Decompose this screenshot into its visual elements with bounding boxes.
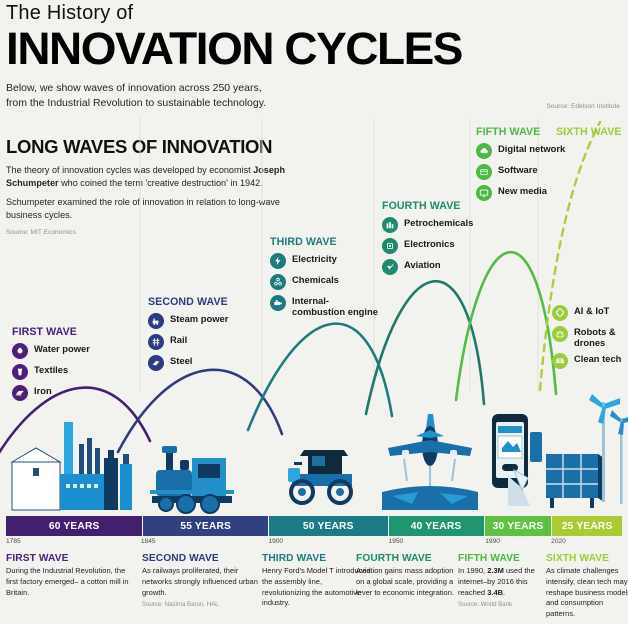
wave-item-steam-power[interactable]: Steam power bbox=[148, 313, 228, 329]
illustration-strip bbox=[0, 392, 628, 516]
wave-item-rail[interactable]: Rail bbox=[148, 334, 228, 350]
chemicals-icon bbox=[270, 274, 286, 290]
software-icon bbox=[476, 164, 492, 180]
year-tick: 1900 bbox=[268, 538, 283, 545]
lw-p1-c: who coined the term 'creative destructio… bbox=[59, 178, 263, 188]
wave-item-textiles[interactable]: Textiles bbox=[12, 364, 90, 380]
footer-col-fourth: FOURTH WAVE Aviation gains mass adoption… bbox=[356, 553, 460, 598]
model-t-illustration bbox=[288, 450, 352, 503]
wave-item-software[interactable]: Software bbox=[476, 164, 565, 180]
lw-p1-a: The theory of innovation cycles was deve… bbox=[6, 165, 253, 175]
wave-item-petrochemicals[interactable]: Petrochemicals bbox=[382, 217, 473, 233]
wave-heading-fifth: FIFTH WAVE bbox=[476, 126, 565, 138]
year-tick: 1845 bbox=[141, 538, 156, 545]
wave-item-label: Steel bbox=[170, 355, 192, 367]
electricity-icon bbox=[270, 253, 286, 269]
header-subtitle-line2: from the Industrial Revolution to sustai… bbox=[6, 96, 622, 111]
solar-panel-icon bbox=[552, 353, 568, 369]
cloud-network-icon bbox=[476, 143, 492, 159]
wave-item-label: Electronics bbox=[404, 238, 455, 250]
engine-icon bbox=[270, 295, 286, 311]
wave-item-label: Digital network bbox=[498, 143, 565, 155]
footer-descriptions: FIRST WAVE During the Industrial Revolut… bbox=[6, 553, 622, 621]
year-tick: 1990 bbox=[485, 538, 500, 545]
header-subtitle-line1: Below, we show waves of innovation acros… bbox=[6, 81, 622, 96]
robot-icon bbox=[552, 326, 568, 342]
page-title: INNOVATION CYCLES bbox=[6, 26, 628, 71]
wave-item-clean-tech[interactable]: Clean tech bbox=[552, 353, 626, 369]
wave-legend-sixth: AI & IoT Robots & drones Clean tech bbox=[552, 300, 626, 369]
wave-item-digital-network[interactable]: Digital network bbox=[476, 143, 565, 159]
header-source: Source: Edelson Institute bbox=[546, 103, 620, 110]
wave-item-label: Rail bbox=[170, 334, 187, 346]
wave-item-label: Software bbox=[498, 164, 538, 176]
wave-item-label: New media bbox=[498, 185, 547, 197]
long-waves-paragraph-1: The theory of innovation cycles was deve… bbox=[6, 164, 306, 190]
electronics-icon bbox=[382, 238, 398, 254]
wave-heading-third: THIRD WAVE bbox=[270, 236, 382, 248]
footer-source: Source: Nacima Baron, HAL bbox=[142, 601, 258, 608]
footer-body: In 1990, 2.3M used the internet–by 2016 … bbox=[458, 566, 548, 598]
long-waves-paragraph-2: Schumpeter examined the role of innovati… bbox=[6, 196, 306, 222]
wave-legend-sixth-heading: SIXTH WAVE bbox=[556, 126, 622, 138]
wave-item-label: Internal-combustion engine bbox=[292, 295, 382, 317]
header-subtitle: Below, we show waves of innovation acros… bbox=[6, 81, 622, 111]
solar-wind-illustration bbox=[546, 394, 628, 508]
wave-legend-second: SECOND WAVE Steam power Rail Steel bbox=[148, 296, 228, 371]
footer-heading: FIRST WAVE bbox=[6, 553, 134, 564]
locomotive-illustration bbox=[150, 446, 234, 513]
aviation-icon bbox=[382, 259, 398, 275]
textiles-icon bbox=[12, 364, 28, 380]
wave-item-water-power[interactable]: Water power bbox=[12, 343, 90, 359]
wave-heading-sixth: SIXTH WAVE bbox=[556, 126, 622, 138]
steel-icon bbox=[148, 355, 164, 371]
factory-illustration bbox=[12, 422, 132, 510]
fb5-a: In 1990, bbox=[458, 566, 487, 575]
wave-item-robots-drones[interactable]: Robots & drones bbox=[552, 326, 626, 348]
fb5-e: . bbox=[503, 588, 505, 597]
steam-power-icon bbox=[148, 313, 164, 329]
wave-legend-fourth: FOURTH WAVE Petrochemicals Electronics A… bbox=[382, 200, 473, 275]
year-tick: 1950 bbox=[389, 538, 404, 545]
wave-legend-fifth: FIFTH WAVE Digital network Software New … bbox=[476, 126, 565, 201]
footer-col-second: SECOND WAVE As railways proliferated, th… bbox=[142, 553, 258, 608]
year-tick: 1785 bbox=[6, 538, 21, 545]
wave-item-aviation[interactable]: Aviation bbox=[382, 259, 473, 275]
page-header: The History of INNOVATION CYCLES Below, … bbox=[6, 2, 622, 111]
footer-source: Source: World Bank bbox=[458, 601, 548, 608]
new-media-icon bbox=[476, 185, 492, 201]
wave-heading-first: FIRST WAVE bbox=[12, 326, 90, 338]
footer-col-fifth: FIFTH WAVE In 1990, 2.3M used the intern… bbox=[458, 553, 548, 608]
timeline-segment-third[interactable]: 50 YEARS bbox=[269, 516, 389, 536]
fb5-stat1: 2.3M bbox=[487, 566, 504, 575]
footer-heading: SIXTH WAVE bbox=[546, 553, 628, 564]
wave-item-label: Robots & drones bbox=[574, 326, 626, 348]
wave-heading-second: SECOND WAVE bbox=[148, 296, 228, 308]
footer-heading: FOURTH WAVE bbox=[356, 553, 460, 564]
timeline-segment-fifth[interactable]: 30 YEARS bbox=[485, 516, 553, 536]
wave-item-label: AI & IoT bbox=[574, 305, 609, 317]
wave-item-electronics[interactable]: Electronics bbox=[382, 238, 473, 254]
wave-item-label: Chemicals bbox=[292, 274, 339, 286]
timeline-segment-sixth[interactable]: 25 YEARS bbox=[552, 516, 622, 536]
wave-item-label: Petrochemicals bbox=[404, 217, 473, 229]
footer-body: Aviation gains mass adoption on a global… bbox=[356, 566, 460, 598]
timeline-segment-first[interactable]: 60 YEARS bbox=[6, 516, 143, 536]
wave-item-label: Water power bbox=[34, 343, 90, 355]
timeline-bar: 60 YEARS 55 YEARS 50 YEARS 40 YEARS 30 Y… bbox=[6, 516, 622, 536]
airplane-illustration bbox=[382, 414, 478, 510]
smartphone-illustration bbox=[492, 414, 542, 506]
footer-col-sixth: SIXTH WAVE As climate challenges intensi… bbox=[546, 553, 628, 620]
wave-item-new-media[interactable]: New media bbox=[476, 185, 565, 201]
footer-col-first: FIRST WAVE During the Industrial Revolut… bbox=[6, 553, 134, 598]
wave-item-label: Clean tech bbox=[574, 353, 621, 365]
wave-item-chemicals[interactable]: Chemicals bbox=[270, 274, 382, 290]
wave-item-label: Steam power bbox=[170, 313, 228, 325]
timeline-segment-second[interactable]: 55 YEARS bbox=[143, 516, 269, 536]
wave-legend-first: FIRST WAVE Water power Textiles Iron bbox=[12, 326, 90, 401]
footer-heading: FIFTH WAVE bbox=[458, 553, 548, 564]
footer-heading: SECOND WAVE bbox=[142, 553, 258, 564]
long-waves-panel: LONG WAVES OF INNOVATION The theory of i… bbox=[6, 136, 306, 236]
wave-item-label: Electricity bbox=[292, 253, 337, 265]
footer-body: As climate challenges intensify, clean t… bbox=[546, 566, 628, 620]
wave-item-label: Textiles bbox=[34, 364, 68, 376]
long-waves-source: Source: MIT Economics bbox=[6, 229, 306, 236]
water-power-icon bbox=[12, 343, 28, 359]
wave-item-electricity[interactable]: Electricity bbox=[270, 253, 382, 269]
year-tick: 2020 bbox=[551, 538, 566, 545]
wave-item-engine[interactable]: Internal-combustion engine bbox=[270, 295, 382, 317]
wave-heading-fourth: FOURTH WAVE bbox=[382, 200, 473, 212]
rail-icon bbox=[148, 334, 164, 350]
petrochemicals-icon bbox=[382, 217, 398, 233]
footer-body: As railways proliferated, their networks… bbox=[142, 566, 258, 598]
header-pretitle: The History of bbox=[6, 2, 622, 24]
wave-item-label: Aviation bbox=[404, 259, 441, 271]
long-waves-title: LONG WAVES OF INNOVATION bbox=[6, 136, 306, 158]
timeline-year-axis: 1785 1845 1900 1950 1990 2020 bbox=[6, 538, 622, 548]
footer-body: During the Industrial Revolution, the fi… bbox=[6, 566, 134, 598]
timeline-segment-fourth[interactable]: 40 YEARS bbox=[389, 516, 485, 536]
fb5-stat2: 3.4B bbox=[487, 588, 503, 597]
ai-brain-icon bbox=[552, 305, 568, 321]
wave-item-steel[interactable]: Steel bbox=[148, 355, 228, 371]
wave-legend-third: THIRD WAVE Electricity Chemicals Interna… bbox=[270, 236, 382, 317]
wave-item-ai-iot[interactable]: AI & IoT bbox=[552, 305, 626, 321]
